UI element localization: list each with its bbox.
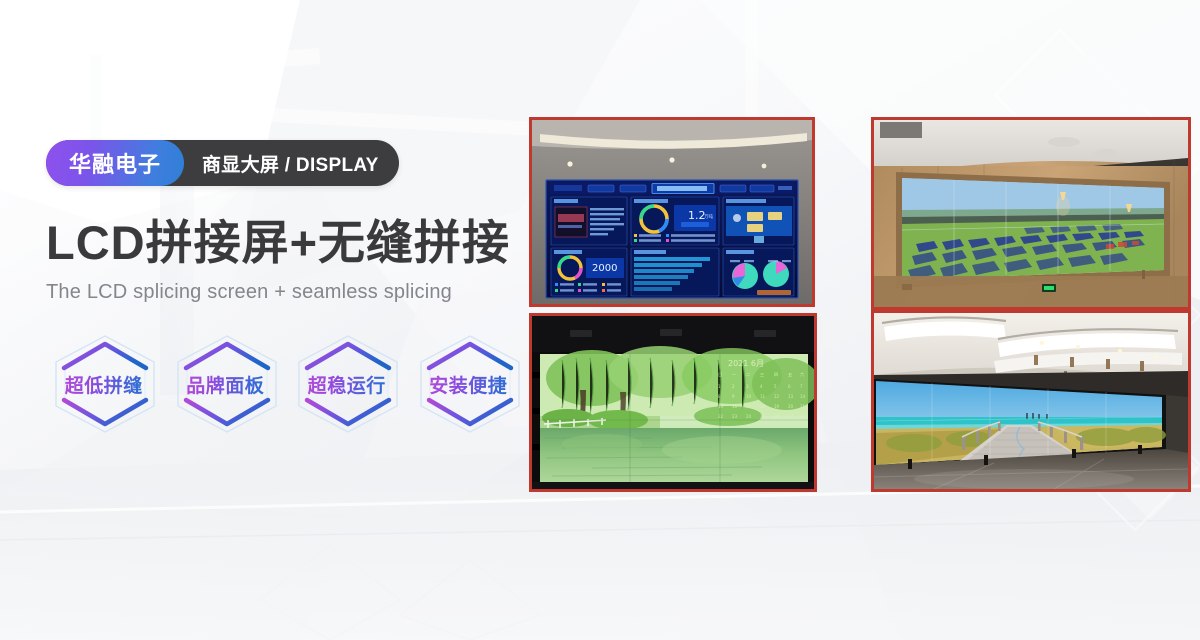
feature-label: 超稳运行 xyxy=(308,371,386,398)
svg-text:13: 13 xyxy=(788,394,794,399)
feature-label: 超低拼缝 xyxy=(65,371,143,398)
photo-solar-farm-panorama[interactable] xyxy=(871,117,1191,310)
svg-text:四: 四 xyxy=(774,372,778,377)
feature-label: 品牌面板 xyxy=(186,371,264,398)
svg-text:20: 20 xyxy=(788,404,794,409)
page-title: LCD拼接屏+无缝拼接 xyxy=(46,218,526,267)
svg-text:二: 二 xyxy=(746,372,750,377)
svg-text:19: 19 xyxy=(774,404,780,409)
willow-lake-scene: 2021 6月 日一二 三四五六 123 4567 8910 11121314 … xyxy=(532,316,814,489)
brand-company-pill: 华融电子 xyxy=(46,140,184,186)
svg-text:10: 10 xyxy=(746,394,752,399)
svg-text:11: 11 xyxy=(760,394,766,399)
photo-beach-boardwalk-lobby[interactable] xyxy=(871,310,1191,492)
feature-hexagon: 品牌面板 xyxy=(168,330,284,438)
svg-text:2021 6月: 2021 6月 xyxy=(728,359,764,368)
feature-list: 超低拼缝 品牌面板 超稳运行 xyxy=(46,330,526,438)
svg-text:五: 五 xyxy=(788,372,792,377)
svg-text:22: 22 xyxy=(718,414,724,419)
svg-text:12: 12 xyxy=(774,394,780,399)
svg-text:18: 18 xyxy=(760,404,766,409)
feature-hexagon: 安装便捷 xyxy=(411,330,527,438)
feature-hexagon: 超低拼缝 xyxy=(46,330,162,438)
svg-text:15: 15 xyxy=(718,404,724,409)
svg-text:25: 25 xyxy=(760,414,766,419)
solar-farm-scene xyxy=(874,120,1188,307)
svg-text:23: 23 xyxy=(732,414,738,419)
brand-badge: 华融电子 商显大屏 / DISPLAY xyxy=(46,140,399,186)
svg-text:21: 21 xyxy=(800,404,806,409)
feature-label: 安装便捷 xyxy=(429,371,507,398)
svg-text:2000: 2000 xyxy=(592,263,617,274)
photo-willow-lake-scene[interactable]: 2021 6月 日一二 三四五六 123 4567 8910 11121314 … xyxy=(529,313,817,492)
svg-text:三: 三 xyxy=(760,372,764,377)
brand-category-label: 商显大屏 / DISPLAY xyxy=(202,150,379,177)
photo-control-room-dashboard[interactable]: 1.2 万吨 xyxy=(529,117,815,307)
svg-text:14: 14 xyxy=(800,394,806,399)
control-room-scene: 1.2 万吨 xyxy=(532,120,812,304)
svg-text:一: 一 xyxy=(732,372,736,377)
svg-text:26: 26 xyxy=(774,414,780,419)
svg-text:六: 六 xyxy=(800,371,804,378)
page-subtitle: The LCD splicing screen + seamless splic… xyxy=(46,281,526,304)
feature-hexagon: 超稳运行 xyxy=(289,330,405,438)
svg-text:28: 28 xyxy=(800,414,806,419)
banner-text-block: 华融电子 商显大屏 / DISPLAY LCD拼接屏+无缝拼接 The LCD … xyxy=(46,140,526,438)
svg-text:17: 17 xyxy=(746,404,752,409)
product-banner: 华融电子 商显大屏 / DISPLAY LCD拼接屏+无缝拼接 The LCD … xyxy=(0,0,1200,640)
svg-text:27: 27 xyxy=(788,414,794,419)
svg-text:16: 16 xyxy=(732,404,738,409)
svg-text:1.2: 1.2 xyxy=(688,209,706,222)
beach-boardwalk-scene xyxy=(874,313,1188,489)
product-photo-grid: 1.2 万吨 xyxy=(529,117,1191,492)
svg-text:万吨: 万吨 xyxy=(704,213,713,220)
svg-text:24: 24 xyxy=(746,414,752,419)
